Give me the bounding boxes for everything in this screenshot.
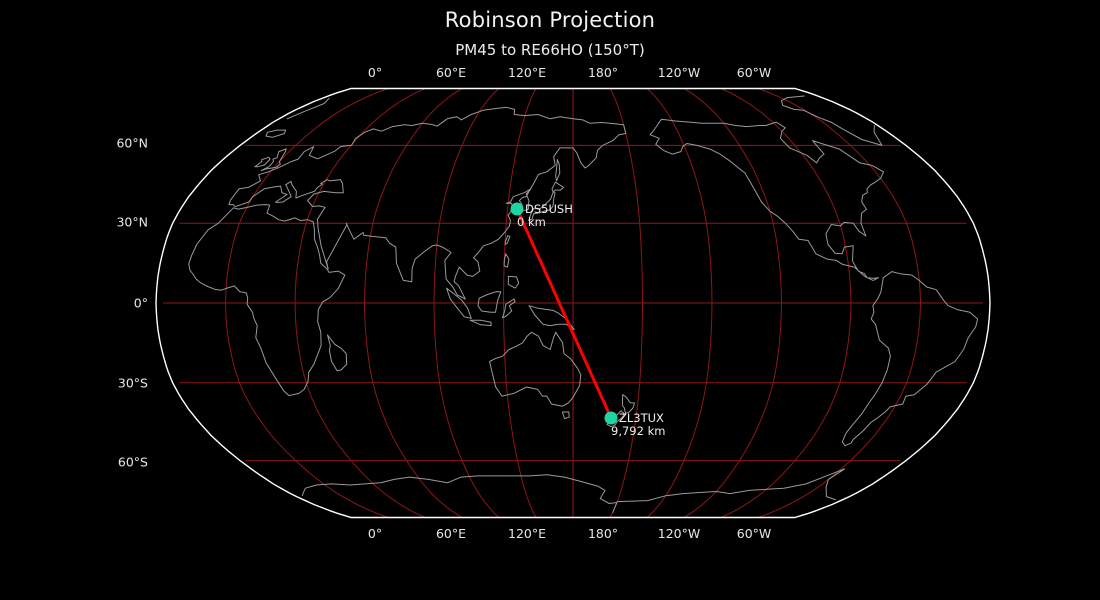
- lon-tick-label-top-1: 60°E: [436, 65, 466, 80]
- lon-tick-label-top-5: 60°W: [737, 65, 772, 80]
- lat-tick-label-4: 60°S: [0, 455, 148, 470]
- map-graticule-group: [163, 89, 983, 518]
- lat-tick-label-2: 0°: [0, 296, 148, 311]
- lon-tick-label-bottom-0: 0°: [368, 526, 382, 541]
- lon-tick-label-top-0: 0°: [368, 65, 382, 80]
- lon-tick-label-top-4: 120°W: [658, 65, 700, 80]
- lat-tick-label-3: 30°S: [0, 376, 148, 391]
- origin-marker[interactable]: [511, 203, 524, 216]
- lat-tick-label-0: 60°N: [0, 136, 148, 151]
- great-circle-path: [517, 209, 611, 418]
- destination-marker-label: ZL3TUX9,792 km: [619, 412, 665, 438]
- lon-tick-label-bottom-4: 120°W: [658, 526, 700, 541]
- distance-text: 9,792 km: [611, 425, 665, 438]
- lon-tick-label-bottom-3: 180°: [588, 526, 618, 541]
- robinson-map-svg: [0, 0, 1100, 600]
- lon-tick-label-top-3: 180°: [588, 65, 618, 80]
- map-coastlines-group: [189, 96, 978, 512]
- destination-marker[interactable]: [605, 412, 618, 425]
- lon-tick-label-top-2: 120°E: [508, 65, 546, 80]
- lat-tick-label-1: 30°N: [0, 215, 148, 230]
- origin-marker-label: DS5USH0 km: [525, 203, 573, 229]
- map-canvas: Robinson Projection PM45 to RE66HO (150°…: [0, 0, 1100, 600]
- lon-tick-label-bottom-5: 60°W: [737, 526, 772, 541]
- lon-tick-label-bottom-1: 60°E: [436, 526, 466, 541]
- distance-text: 0 km: [517, 216, 573, 229]
- lon-tick-label-bottom-2: 120°E: [508, 526, 546, 541]
